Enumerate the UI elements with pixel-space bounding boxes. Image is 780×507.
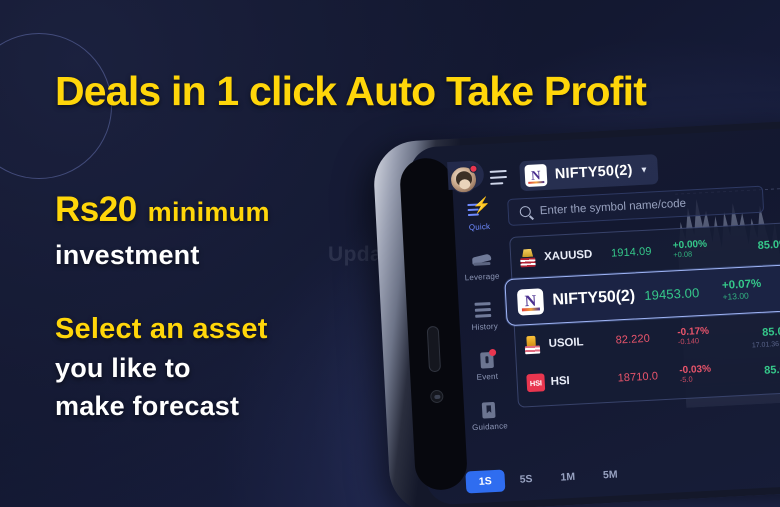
timeframe-tabs: 1S 5S 1M 5M <box>465 463 631 494</box>
sidebar-item-leverage[interactable]: Leverage <box>463 250 500 283</box>
tab-5s[interactable]: 5S <box>506 467 546 491</box>
tab-1m[interactable]: 1M <box>547 465 589 489</box>
asset-symbol: XAUUSD <box>544 248 612 263</box>
asset-symbol: HSI <box>550 372 618 387</box>
promo-price-subject: investment <box>55 240 405 271</box>
left-sidebar: Quick Leverage History Event <box>455 199 513 432</box>
promo-cta-block: Select an asset you like to make forecas… <box>55 313 415 422</box>
sidebar-item-guidance[interactable]: Guidance <box>471 399 508 432</box>
earpiece-speaker <box>427 326 441 373</box>
gold-usd-icon <box>520 248 539 267</box>
promo-headline: Deals in 1 click Auto Take Profit <box>55 68 646 115</box>
asset-change-abs: +13.00 <box>722 289 780 302</box>
app-header: N NIFTY50(2) ▾ <box>449 154 658 195</box>
history-list-icon <box>473 300 495 320</box>
sidebar-item-event[interactable]: Event <box>475 350 498 382</box>
chevron-down-icon: ▾ <box>641 164 647 175</box>
tab-1s[interactable]: 1S <box>465 470 505 494</box>
asset-payout: 85.0% <box>764 363 780 377</box>
oil-barrel-usd-icon <box>524 335 543 354</box>
sidebar-item-history[interactable]: History <box>470 300 498 332</box>
asset-list-panel: XAUUSD 1914.09 +0.00% +0.08 85.0% N NIFT… <box>509 222 780 408</box>
hsi-index-icon: HSI <box>526 373 545 392</box>
asset-change-abs: -0.140 <box>678 335 740 347</box>
promo-cta-line3: make forecast <box>55 391 415 422</box>
asset-change: -0.17% -0.140 <box>677 324 740 347</box>
promo-price-qualifier: minimum <box>148 197 270 227</box>
quick-lightning-icon <box>468 200 490 220</box>
search-placeholder: Enter the symbol name/code <box>539 197 686 217</box>
menu-icon[interactable] <box>490 170 508 185</box>
menu-line <box>490 182 503 185</box>
promo-banner: Deals in 1 click Auto Take Profit Rs20mi… <box>0 0 780 507</box>
asset-change: +0.00% +0.08 <box>673 237 736 260</box>
sidebar-item-label: Quick <box>469 222 491 232</box>
tab-5m[interactable]: 5M <box>589 463 631 487</box>
search-icon <box>520 206 532 218</box>
sidebar-item-label: Guidance <box>472 421 508 432</box>
selected-symbol-label: NIFTY50(2) <box>554 162 632 182</box>
guidance-book-icon <box>478 400 500 420</box>
symbol-selector[interactable]: N NIFTY50(2) ▾ <box>519 154 658 191</box>
phone-mockup: N NIFTY50(2) ▾ Enter the symbol name/cod… <box>372 120 780 507</box>
asset-payout: 85.0% <box>762 325 780 339</box>
event-notification-badge <box>489 349 496 356</box>
nifty-logo-icon: N <box>517 288 544 315</box>
asset-price: 82.220 <box>615 331 678 346</box>
asset-price: 1914.09 <box>611 244 674 259</box>
sidebar-item-label: Leverage <box>464 272 499 283</box>
asset-payout: 85.0% <box>757 238 780 252</box>
sidebar-item-label: Event <box>476 372 498 382</box>
asset-symbol: USOIL <box>548 335 616 350</box>
asset-change: +0.07% +13.00 <box>722 276 780 303</box>
avatar[interactable] <box>449 165 477 193</box>
promo-price-line: Rs20minimum <box>55 190 405 230</box>
asset-price: 18710.0 <box>617 369 680 384</box>
menu-line <box>490 176 507 179</box>
asset-change-abs: -5.0 <box>680 373 742 385</box>
promo-price-block: Rs20minimum investment <box>55 190 405 271</box>
asset-symbol: NIFTY50(2) <box>552 286 645 309</box>
asset-price: 19453.00 <box>644 284 723 303</box>
promo-cta-highlight: Select an asset <box>55 313 415 346</box>
promo-price-amount: Rs20 <box>55 190 137 229</box>
nifty-logo-icon: N <box>524 164 547 187</box>
avatar-notification-badge <box>469 164 477 172</box>
leverage-icon <box>470 250 492 270</box>
asset-change: -0.03% -5.0 <box>679 362 742 385</box>
asset-change-abs: +0.08 <box>673 249 735 261</box>
chart-time-label: 17.01.36 <box>752 341 780 349</box>
menu-line <box>490 170 507 173</box>
promo-cta-line2: you like to <box>55 353 415 384</box>
sidebar-item-quick[interactable]: Quick <box>467 200 490 232</box>
phone-body: N NIFTY50(2) ▾ Enter the symbol name/cod… <box>372 120 780 507</box>
sidebar-item-label: History <box>471 322 498 332</box>
